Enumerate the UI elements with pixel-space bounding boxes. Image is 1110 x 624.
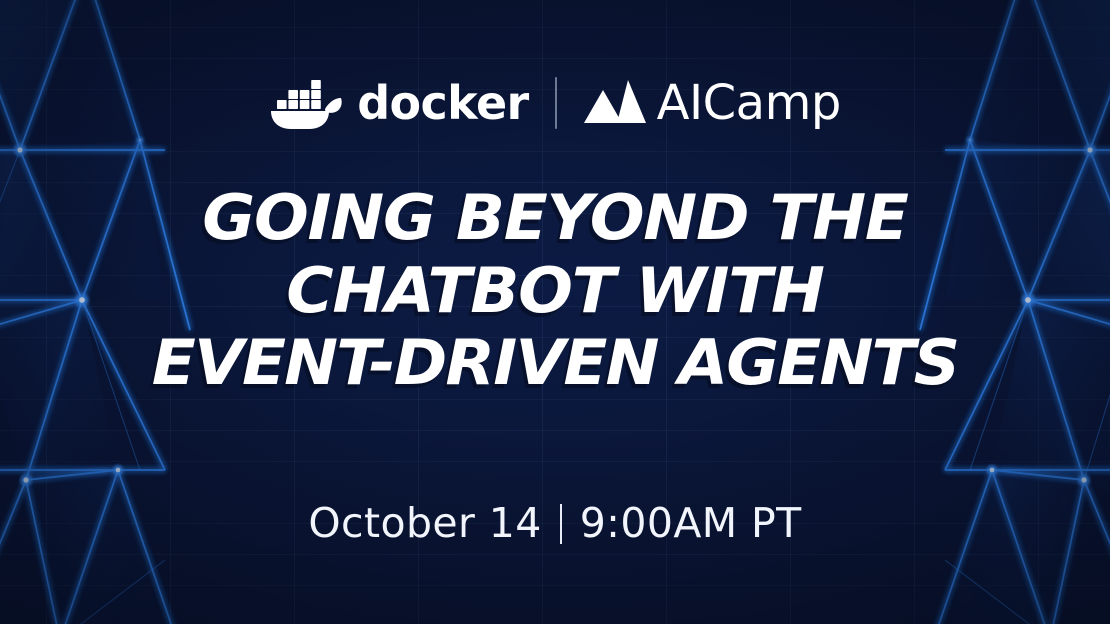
aicamp-logo: AICamp (583, 78, 841, 128)
headline-line-3: EVENT-DRIVEN AGENTS (30, 327, 1080, 400)
logo-divider (555, 77, 557, 129)
docker-whale-icon (269, 76, 343, 130)
webinar-promo-banner: docker AICamp GOING BEYOND THE CHATBOT W… (0, 0, 1110, 624)
headline-line-1: GOING BEYOND THE (30, 182, 1080, 255)
event-datetime: October 14 9:00AM PT (308, 503, 801, 544)
aicamp-wordmark: AICamp (657, 79, 841, 127)
banner-content: docker AICamp GOING BEYOND THE CHATBOT W… (0, 0, 1110, 624)
headline-line-2: CHATBOT WITH (30, 255, 1080, 328)
logo-lockup-row: docker AICamp (269, 72, 841, 134)
aicamp-triangles-icon (583, 78, 647, 128)
event-datetime-separator (560, 504, 562, 544)
page-title: GOING BEYOND THE CHATBOT WITH EVENT-DRIV… (30, 182, 1080, 400)
event-time: 9:00AM PT (580, 503, 802, 544)
docker-wordmark: docker (357, 80, 528, 126)
event-date: October 14 (308, 503, 541, 544)
docker-logo: docker (269, 76, 528, 130)
